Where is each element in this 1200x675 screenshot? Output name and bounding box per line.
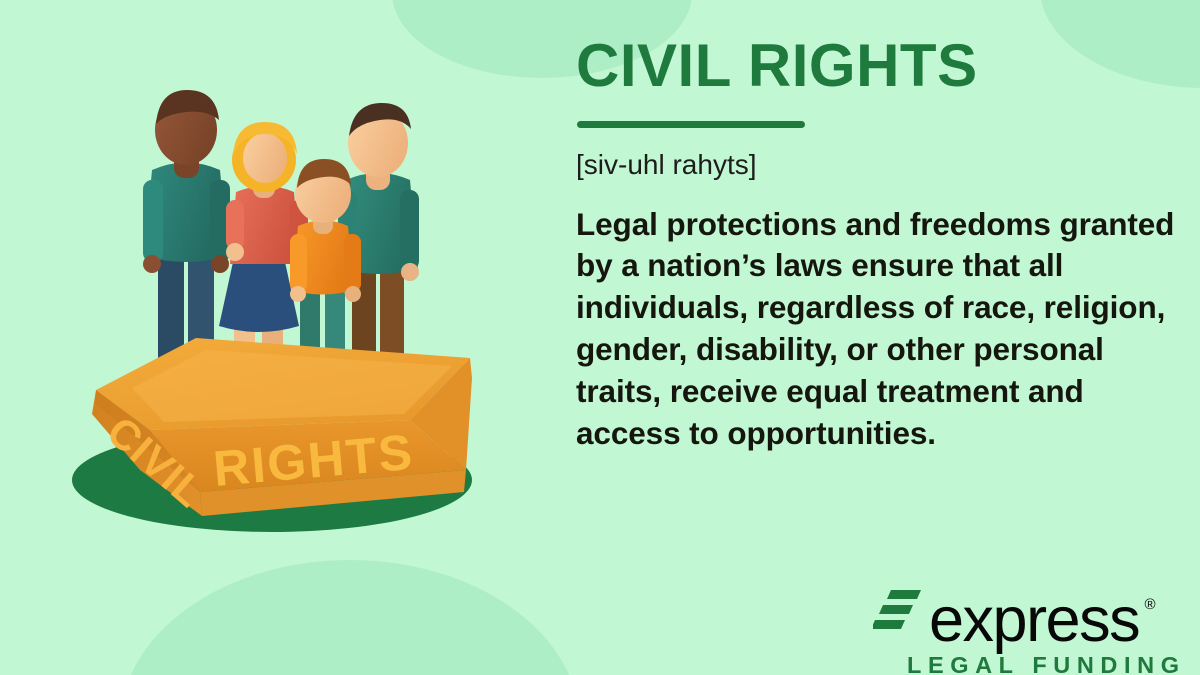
figure-adult-man-left [143,90,230,378]
page-title: CIVIL RIGHTS [576,34,1176,97]
civil-rights-illustration: CIVIL RIGHTS [0,0,560,675]
registered-trademark-icon: ® [1145,597,1155,612]
express-speed-bars-icon [873,588,923,639]
definition-content: CIVIL RIGHTS [siv-uhl rahyts] Legal prot… [576,0,1200,675]
title-underline-rule [577,121,805,128]
logo-top-row: express ® [873,588,1139,647]
pronunciation-text: [siv-uhl rahyts] [576,148,1176,182]
logo-wordmark-wrapper: express ® [929,595,1139,647]
logo-wordmark: express [929,585,1139,655]
logo-tagline: LEGAL FUNDING [907,652,1186,675]
definition-graphic-card: CIVIL RIGHTS CIVIL RIGHTS [siv-uhl rahyt… [0,0,1200,675]
express-legal-funding-logo[interactable]: express ® LEGAL FUNDING [873,588,1178,675]
definition-text: Legal protections and freedoms granted b… [576,204,1176,455]
